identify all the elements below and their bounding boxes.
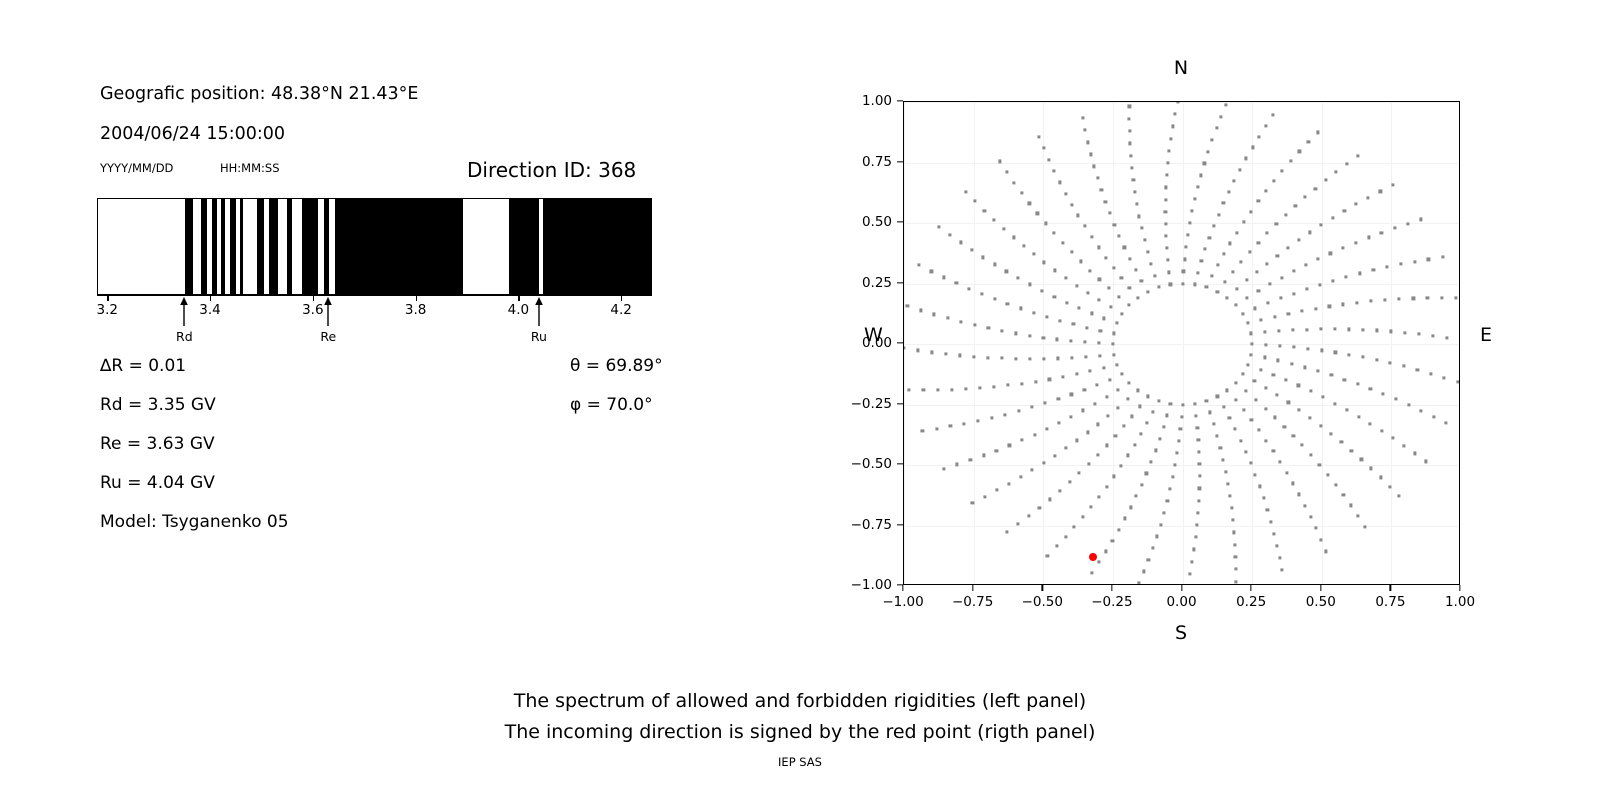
- direction-point: [1331, 279, 1334, 282]
- direction-point: [1380, 429, 1383, 432]
- direction-point: [1298, 150, 1301, 153]
- direction-point: [1244, 390, 1247, 393]
- direction-point: [1057, 357, 1060, 360]
- direction-point: [1064, 535, 1067, 538]
- compass-south-label: S: [1175, 622, 1187, 644]
- direction-point: [906, 305, 909, 308]
- direction-point: [950, 388, 953, 391]
- direction-point: [1257, 200, 1260, 203]
- direction-point: [1084, 129, 1087, 132]
- direction-point: [1240, 260, 1243, 263]
- direction-point: [1292, 345, 1295, 348]
- x-tick-label: 0.75: [1375, 594, 1405, 610]
- direction-point: [1251, 342, 1254, 345]
- direction-point: [1019, 475, 1022, 478]
- direction-point: [1083, 341, 1086, 344]
- direction-point: [1166, 414, 1169, 417]
- direction-point: [1420, 218, 1423, 221]
- y-tick-mark: [897, 524, 903, 525]
- direction-point: [1242, 220, 1245, 223]
- direction-point: [1226, 482, 1229, 485]
- direction-point: [955, 282, 958, 285]
- marker-label-re: Re: [320, 329, 336, 344]
- direction-point: [1005, 270, 1008, 273]
- direction-point: [1402, 365, 1405, 368]
- direction-point: [1222, 202, 1225, 205]
- direction-point: [1345, 275, 1348, 278]
- direction-point: [1019, 307, 1022, 310]
- caption-line-1: The spectrum of allowed and forbidden ri…: [0, 686, 1600, 717]
- direction-point: [1326, 473, 1329, 476]
- direction-point: [1105, 444, 1108, 447]
- direction-point: [1412, 297, 1415, 300]
- parameter-model: Model: Tsyganenko 05: [100, 512, 289, 532]
- forbidden-band: [221, 199, 225, 294]
- direction-point: [1391, 436, 1394, 439]
- forbidden-band: [269, 199, 279, 294]
- direction-point: [1089, 370, 1092, 373]
- direction-point: [1070, 393, 1073, 396]
- direction-point: [1105, 485, 1108, 488]
- direction-point: [1121, 312, 1124, 315]
- direction-point: [1222, 253, 1225, 256]
- direction-point: [987, 326, 990, 329]
- direction-point: [1257, 289, 1260, 292]
- direction-point: [937, 225, 940, 228]
- direction-point: [1128, 117, 1131, 120]
- direction-point: [1017, 409, 1020, 412]
- direction-point: [1064, 192, 1067, 195]
- direction-point: [1367, 196, 1370, 199]
- direction-point: [1132, 178, 1135, 181]
- direction-point: [1034, 380, 1037, 383]
- direction-point: [1177, 439, 1180, 442]
- direction-point: [1248, 250, 1251, 253]
- direction-point: [1229, 242, 1232, 245]
- direction-point: [1001, 329, 1004, 332]
- direction-point: [1272, 114, 1275, 117]
- axis-tick-label: 3.8: [405, 302, 426, 318]
- direction-point: [1278, 344, 1281, 347]
- direction-point: [1036, 212, 1039, 215]
- direction-point: [1235, 231, 1238, 234]
- direction-point: [1096, 453, 1099, 456]
- direction-point: [1254, 398, 1257, 401]
- direction-point: [1042, 147, 1045, 150]
- direction-point: [1269, 520, 1272, 523]
- direction-point: [1112, 266, 1115, 269]
- direction-point: [1335, 170, 1338, 173]
- direction-point: [1179, 427, 1182, 430]
- direction-point: [1309, 390, 1312, 393]
- direction-point: [1077, 306, 1080, 309]
- direction-point: [922, 389, 925, 392]
- direction-point: [1398, 298, 1401, 301]
- direction-point: [1456, 380, 1459, 383]
- direction-point: [1389, 330, 1392, 333]
- direction-point: [1345, 408, 1348, 411]
- direction-point: [1128, 257, 1131, 260]
- direction-point: [1197, 499, 1200, 502]
- x-tick-mark: [902, 585, 903, 591]
- direction-point: [1137, 581, 1140, 584]
- direction-point: [1350, 449, 1353, 452]
- direction-point: [1115, 322, 1118, 325]
- direction-point: [1142, 570, 1145, 573]
- direction-point: [969, 458, 972, 461]
- direction-point: [1397, 495, 1400, 498]
- direction-id-label: Direction ID: 368: [467, 158, 636, 182]
- direction-point: [1279, 297, 1282, 300]
- direction-point: [1104, 550, 1107, 553]
- direction-point: [1045, 315, 1048, 318]
- geographic-position-label: Geografic position: 48.38°N 21.43°E: [100, 84, 418, 104]
- direction-point: [1309, 515, 1312, 518]
- direction-point: [1273, 416, 1276, 419]
- direction-point: [1181, 403, 1184, 406]
- direction-point: [1241, 312, 1244, 315]
- direction-point: [1304, 196, 1307, 199]
- direction-point: [1364, 525, 1367, 528]
- direction-point: [918, 264, 921, 267]
- direction-point: [1100, 188, 1103, 191]
- direction-point: [1186, 584, 1189, 585]
- direction-point: [1120, 276, 1123, 279]
- direction-point: [1357, 415, 1360, 418]
- direction-point: [1087, 462, 1090, 465]
- direction-point: [1314, 307, 1317, 310]
- direction-point: [1048, 498, 1051, 501]
- direction-point: [1147, 558, 1150, 561]
- direction-point: [1020, 439, 1023, 442]
- direction-point: [1233, 543, 1236, 546]
- direction-point: [1097, 561, 1100, 564]
- direction-point: [1196, 186, 1199, 189]
- direction-point: [1150, 460, 1153, 463]
- direction-point: [1001, 357, 1004, 360]
- direction-point: [1070, 339, 1073, 342]
- direction-point: [1188, 572, 1191, 575]
- direction-point: [1257, 429, 1260, 432]
- direction-point: [1307, 140, 1310, 143]
- direction-point: [1361, 328, 1364, 331]
- direction-point: [933, 313, 936, 316]
- direction-point: [1085, 326, 1088, 329]
- direction-point: [1314, 187, 1317, 190]
- direction-point: [1349, 504, 1352, 507]
- direction-point: [1109, 305, 1112, 308]
- direction-point: [1070, 251, 1073, 254]
- direction-point: [1347, 328, 1350, 331]
- direction-point: [958, 354, 961, 357]
- direction-point: [1135, 203, 1138, 206]
- direction-point: [1075, 439, 1078, 442]
- direction-point: [1283, 425, 1286, 428]
- direction-point: [1230, 506, 1233, 509]
- direction-point: [1340, 441, 1343, 444]
- direction-point: [1128, 130, 1131, 133]
- rigidity-spectrum-bar-container: [97, 198, 652, 295]
- parameter-phi: φ = 70.0°: [570, 395, 653, 415]
- direction-point: [921, 429, 924, 432]
- direction-point: [1306, 347, 1309, 350]
- direction-point: [1181, 282, 1184, 285]
- direction-point: [1058, 181, 1061, 184]
- direction-point: [1044, 222, 1047, 225]
- direction-point: [1105, 395, 1108, 398]
- direction-point: [987, 356, 990, 359]
- direction-point: [1112, 332, 1115, 335]
- direction-point: [1061, 375, 1064, 378]
- direction-point: [1427, 258, 1430, 261]
- direction-point: [1330, 432, 1333, 435]
- direction-point: [1123, 246, 1126, 249]
- direction-point: [1192, 548, 1195, 551]
- direction-point: [1174, 463, 1177, 466]
- direction-point: [993, 297, 996, 300]
- direction-point: [1146, 395, 1149, 398]
- direction-point: [1242, 408, 1245, 411]
- direction-point: [1217, 213, 1220, 216]
- x-tick-mark: [1250, 585, 1251, 591]
- direction-point: [1005, 170, 1008, 173]
- direction-point: [1228, 417, 1231, 420]
- direction-point: [1281, 568, 1284, 571]
- direction-point: [1128, 286, 1131, 289]
- x-tick-label: 0.00: [1166, 594, 1196, 610]
- direction-point: [1209, 411, 1212, 414]
- direction-point: [1358, 272, 1361, 275]
- direction-point: [1369, 387, 1372, 390]
- direction-point: [1268, 283, 1271, 286]
- y-tick-label: −0.25: [851, 396, 892, 412]
- direction-point: [1041, 289, 1044, 292]
- direction-point: [1233, 531, 1236, 534]
- direction-point: [1245, 296, 1248, 299]
- direction-point: [1272, 373, 1275, 376]
- gridline-vertical: [1043, 102, 1044, 584]
- direction-point: [1263, 331, 1266, 334]
- direction-point: [1130, 415, 1133, 418]
- direction-point: [1159, 523, 1162, 526]
- direction-point: [1198, 463, 1201, 466]
- direction-point: [1222, 406, 1225, 409]
- direction-point: [1140, 483, 1143, 486]
- direction-point: [1095, 383, 1098, 386]
- direction-point: [946, 317, 949, 320]
- direction-point: [1265, 189, 1268, 192]
- direction-point: [1260, 318, 1263, 321]
- marker-label-ru: Ru: [531, 329, 547, 344]
- direction-point: [1089, 506, 1092, 509]
- direction-point: [1097, 495, 1100, 498]
- direction-point: [1083, 388, 1086, 391]
- direction-point: [1096, 177, 1099, 180]
- axis-tick-label: 4.0: [508, 302, 529, 318]
- direction-point: [1249, 353, 1252, 356]
- gridline-horizontal: [904, 163, 1459, 164]
- direction-point: [1028, 283, 1031, 286]
- x-tick-label: −0.50: [1022, 594, 1063, 610]
- direction-point: [1342, 303, 1345, 306]
- direction-point: [1111, 539, 1114, 542]
- direction-point: [1287, 246, 1290, 249]
- direction-point: [1164, 222, 1167, 225]
- direction-point: [1361, 356, 1364, 359]
- direction-point: [1403, 331, 1406, 334]
- direction-point: [973, 355, 976, 358]
- direction-point: [1205, 399, 1208, 402]
- direction-point: [1081, 116, 1084, 119]
- direction-point: [1136, 389, 1139, 392]
- gridline-vertical: [1391, 102, 1392, 584]
- direction-point: [1163, 511, 1166, 514]
- incoming-direction-panel: N S W E −1.00−0.75−0.50−0.250.000.250.50…: [780, 0, 1600, 660]
- direction-point: [1153, 274, 1156, 277]
- direction-point: [1276, 393, 1279, 396]
- direction-point: [1223, 280, 1226, 283]
- direction-point: [1234, 580, 1237, 583]
- direction-point: [916, 349, 919, 352]
- direction-point: [1224, 470, 1227, 473]
- forbidden-band: [240, 199, 244, 294]
- direction-point: [1324, 550, 1327, 553]
- direction-point: [1308, 231, 1311, 234]
- direction-point: [1033, 433, 1036, 436]
- direction-point: [1285, 471, 1288, 474]
- direction-point: [1391, 184, 1394, 187]
- direction-point: [1022, 244, 1025, 247]
- direction-point: [908, 389, 911, 392]
- direction-point: [1017, 276, 1020, 279]
- direction-point: [1138, 215, 1141, 218]
- direction-point: [995, 449, 998, 452]
- direction-point: [1157, 399, 1160, 402]
- direction-point: [1044, 402, 1047, 405]
- direction-point: [1343, 209, 1346, 212]
- direction-point: [1203, 162, 1206, 165]
- direction-point: [1275, 222, 1278, 225]
- parameter-delta-r: ∆R = 0.01: [100, 356, 186, 376]
- direction-point: [1234, 428, 1237, 431]
- direction-point: [1304, 504, 1307, 507]
- direction-point: [1266, 302, 1269, 305]
- direction-point: [1174, 113, 1177, 116]
- direction-point: [1165, 174, 1168, 177]
- direction-point: [1184, 246, 1187, 249]
- direction-point: [1348, 353, 1351, 356]
- direction-point: [1043, 357, 1046, 360]
- direction-point: [1140, 432, 1143, 435]
- x-tick-mark: [1390, 585, 1391, 591]
- direction-point: [1112, 353, 1115, 356]
- direction-point: [1334, 351, 1337, 354]
- direction-point: [1259, 368, 1262, 371]
- direction-point: [1027, 515, 1030, 518]
- y-tick-label: −1.00: [851, 577, 892, 593]
- direction-point: [1169, 137, 1172, 140]
- direction-point: [1413, 260, 1416, 263]
- direction-point: [1320, 349, 1323, 352]
- forbidden-band: [543, 199, 652, 294]
- direction-point: [959, 241, 962, 244]
- direction-point: [1193, 283, 1196, 286]
- direction-point: [1196, 426, 1199, 429]
- direction-point: [1266, 508, 1269, 511]
- direction-point: [1138, 405, 1141, 408]
- direction-point: [1444, 421, 1447, 424]
- footer-credit: IEP SAS: [0, 755, 1600, 769]
- direction-point: [1241, 373, 1244, 376]
- direction-point: [1279, 460, 1282, 463]
- direction-point: [1330, 374, 1333, 377]
- direction-point: [1249, 462, 1252, 465]
- direction-point: [1432, 415, 1435, 418]
- direction-point: [1245, 279, 1248, 282]
- direction-point: [1164, 210, 1167, 213]
- direction-point: [1107, 415, 1110, 418]
- direction-point: [1300, 309, 1303, 312]
- direction-point: [1319, 424, 1322, 427]
- direction-point: [1166, 259, 1169, 262]
- direction-point: [1135, 494, 1138, 497]
- direction-point: [1146, 290, 1149, 293]
- direction-point: [1176, 451, 1179, 454]
- direction-point: [1193, 198, 1196, 201]
- direction-point: [1394, 398, 1397, 401]
- direction-point: [1429, 372, 1432, 375]
- direction-point: [1264, 407, 1267, 410]
- x-tick-mark: [1111, 585, 1112, 591]
- direction-point: [1077, 214, 1080, 217]
- rigidity-spectrum-panel: Geografic position: 48.38°N 21.43°E 2004…: [0, 0, 760, 620]
- direction-point: [1414, 452, 1417, 455]
- axis-tick-mark: [313, 295, 314, 301]
- direction-point: [1292, 292, 1295, 295]
- direction-point: [1245, 157, 1248, 160]
- direction-point: [1154, 449, 1157, 452]
- direction-point: [1047, 158, 1050, 161]
- direction-point: [1028, 202, 1031, 205]
- direction-point: [1004, 413, 1007, 416]
- direction-point: [1320, 223, 1323, 226]
- direction-point: [1082, 409, 1085, 412]
- direction-point: [1250, 418, 1253, 421]
- direction-point: [1198, 487, 1201, 490]
- direction-point: [1017, 523, 1020, 526]
- direction-point: [1151, 546, 1154, 549]
- direction-point: [1180, 415, 1183, 418]
- gridline-vertical: [1322, 102, 1323, 584]
- direction-point: [982, 256, 985, 259]
- y-tick-mark: [897, 161, 903, 162]
- direction-point: [1356, 154, 1359, 157]
- direction-point: [1129, 506, 1132, 509]
- direction-point: [942, 467, 945, 470]
- direction-point: [1331, 216, 1334, 219]
- direction-point: [1207, 150, 1210, 153]
- direction-point: [1216, 434, 1219, 437]
- direction-point: [1134, 268, 1137, 271]
- direction-point: [1130, 166, 1133, 169]
- marker-arrow-rd-icon: [177, 296, 191, 326]
- direction-point: [1112, 475, 1115, 478]
- direction-point: [974, 200, 977, 203]
- axis-tick-label: 4.2: [610, 302, 631, 318]
- direction-point: [1200, 259, 1203, 262]
- direction-point: [1068, 480, 1071, 483]
- forbidden-band: [212, 199, 218, 294]
